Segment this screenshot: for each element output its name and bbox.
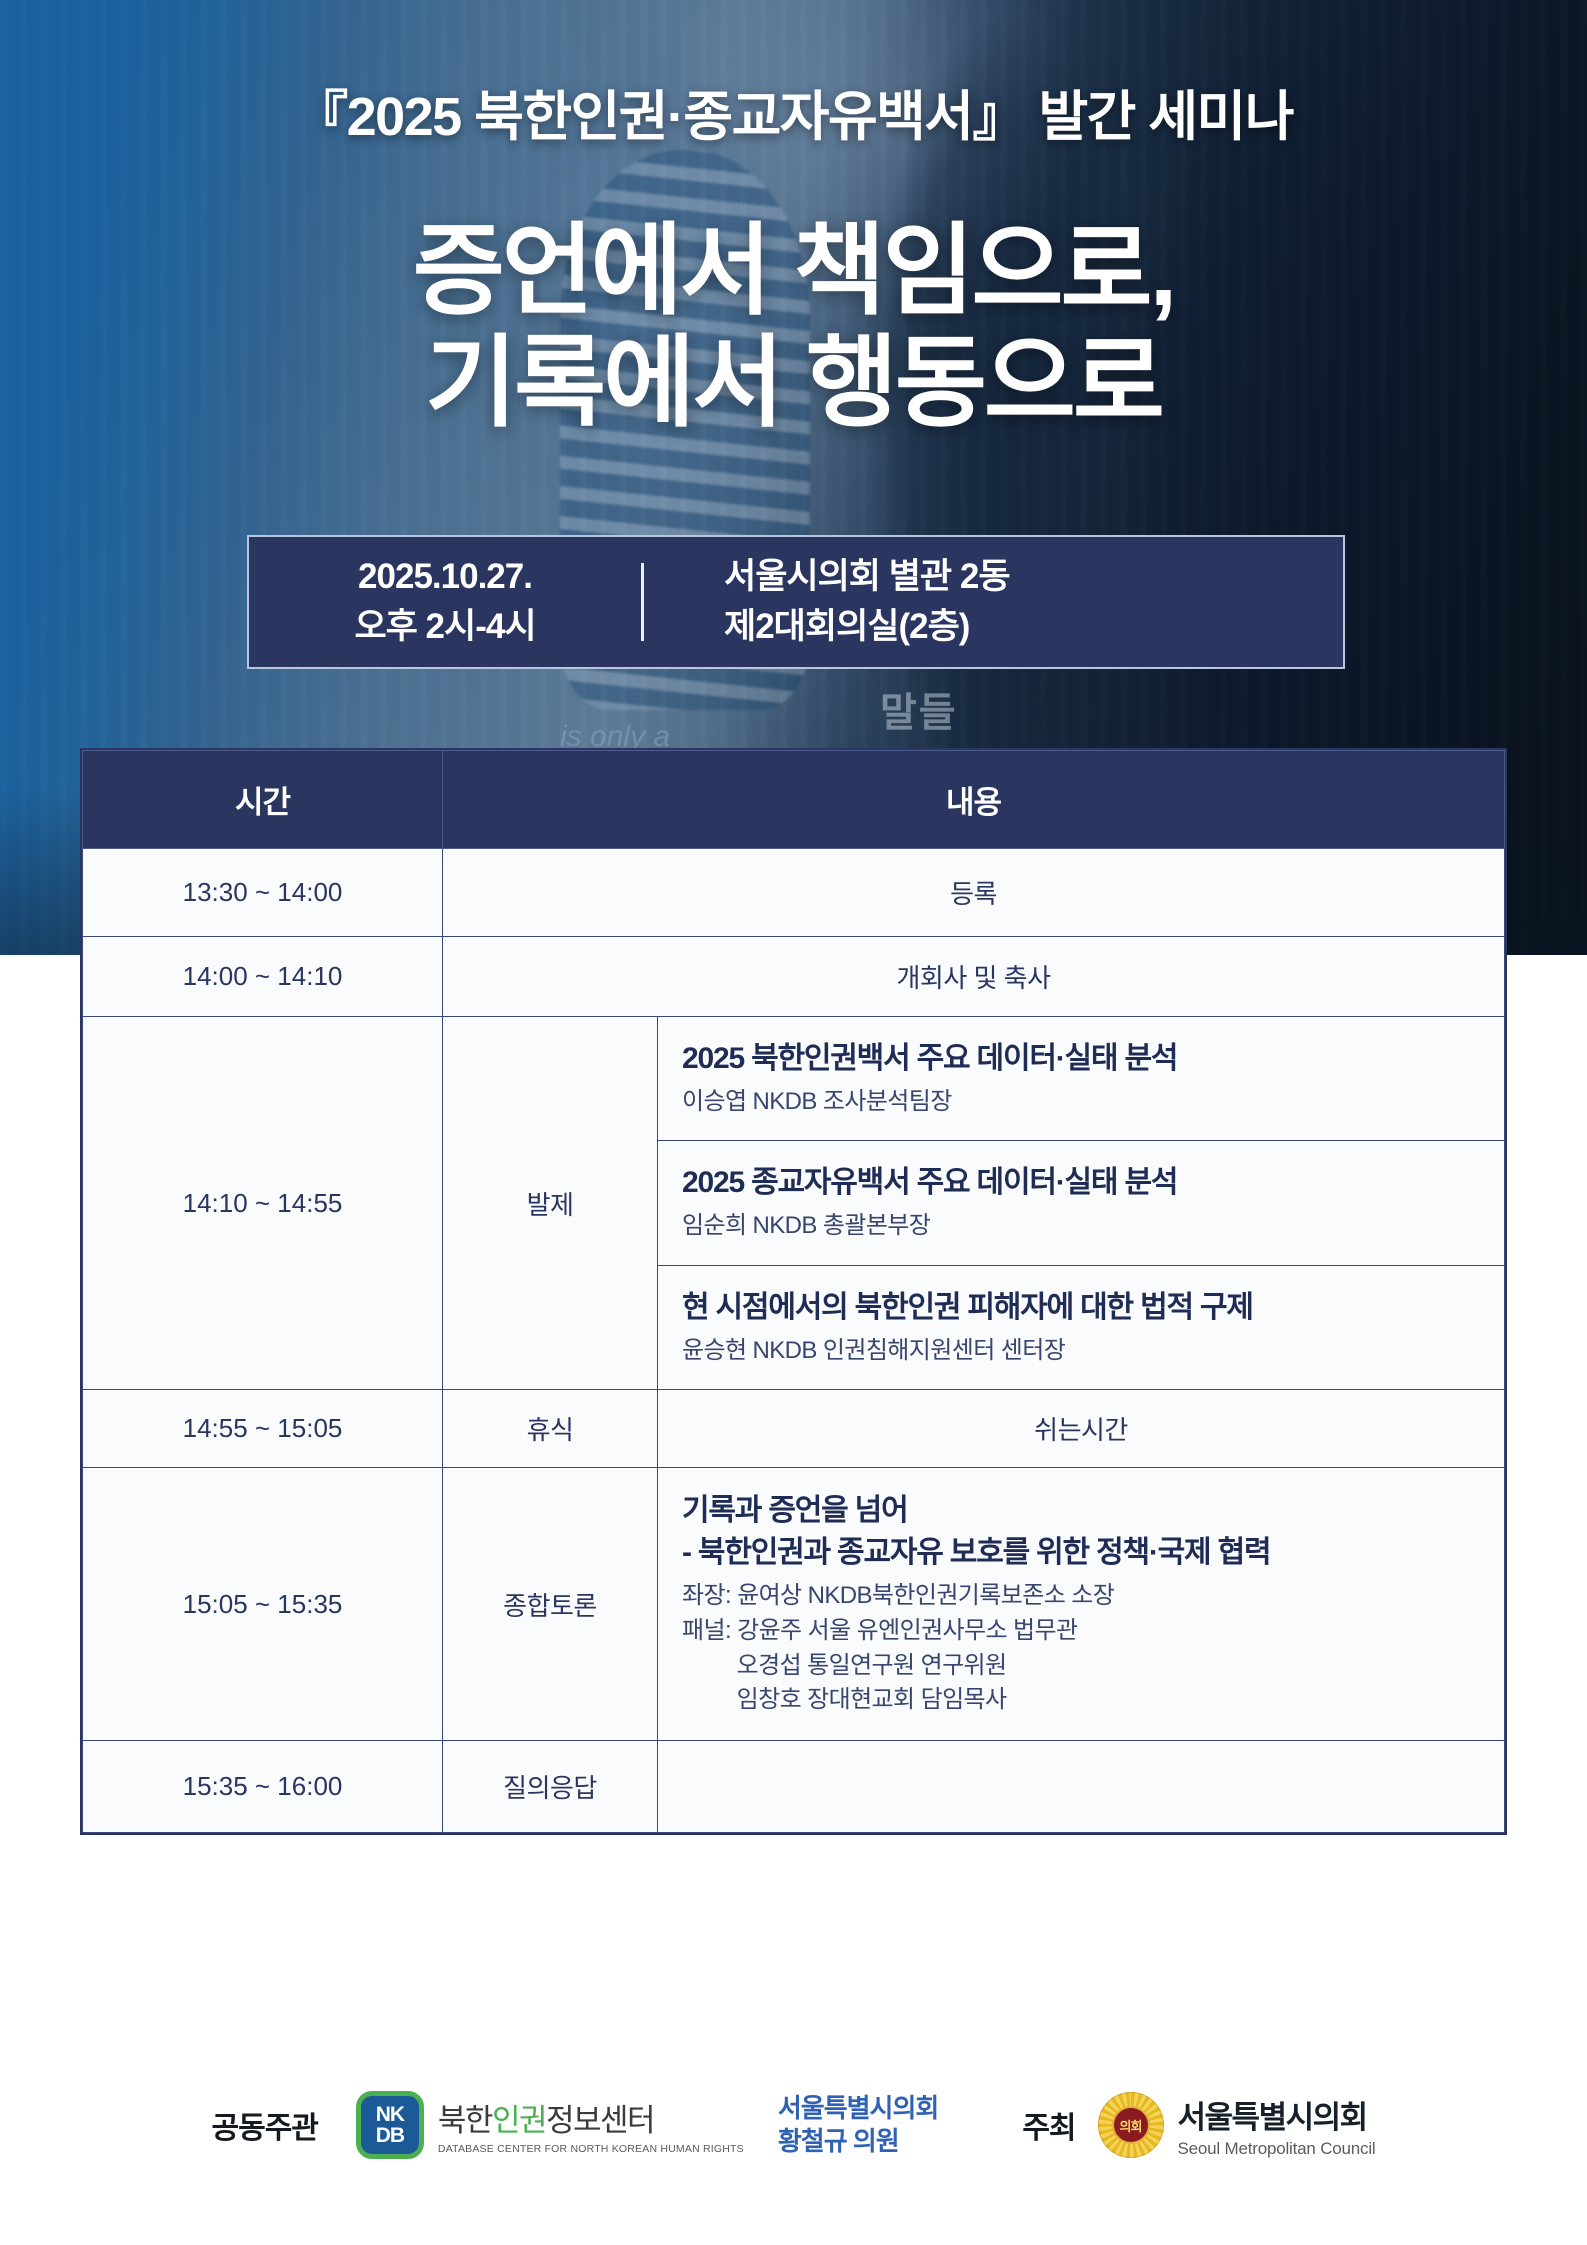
cell-time: 14:10 ~ 14:55 [83,1017,443,1390]
table-row: 13:30 ~ 14:00 등록 [83,849,1505,937]
seminar-kicker-title: 『2025 북한인권·종교자유백서』 발간 세미나 [0,72,1587,151]
nkdb-name-suffix: 정보센터 [546,2103,654,2138]
table-row: 14:00 ~ 14:10 개회사 및 축사 [83,937,1505,1017]
panel-member-2: 오경섭 통일연구원 연구위원 [682,1649,1504,1684]
session-speaker: 이승엽 NKDB 조사분석팀장 [682,1086,1504,1118]
session-title: 현 시점에서의 북한인권 피해자에 대한 법적 구제 [682,1288,1504,1327]
venue-room: 제2대회의실(2층) [724,602,1343,652]
panel-participants: 좌장: 윤여상 NKDB북한인권기록보존소 소장 패널: 강윤주 서울 유엔인권… [682,1579,1504,1718]
session-speaker: 임순희 NKDB 총괄본부장 [682,1210,1504,1242]
cell-session: 2025 종교자유백서 주요 데이터·실태 분석 임순희 NKDB 총괄본부장 [658,1141,1505,1265]
nkdb-mark-line-1: NK [376,2104,404,2125]
event-date: 2025.10.27. [249,552,641,602]
nkdb-mark-line-2: DB [376,2125,404,2146]
table-header-row: 시간 내용 [83,751,1505,849]
nkdb-name-ko: 북한인권정보센터 [438,2095,744,2140]
event-time: 오후 2시-4시 [249,602,641,652]
nkdb-name-highlight: 인권 [492,2103,546,2138]
cell-category: 질의응답 [443,1741,658,1833]
cell-content [658,1741,1505,1833]
seoul-council-wordmark: 서울특별시의회 Seoul Metropolitan Council [1178,2092,1376,2159]
nkdb-name-prefix: 북한 [438,2103,492,2138]
cell-category: 발제 [443,1017,658,1390]
panel-title-line-2: - 북한인권과 종교자유 보호를 위한 정책·국제 협력 [682,1532,1504,1573]
cell-content: 등록 [443,849,1505,937]
cell-content: 개회사 및 축사 [443,937,1505,1017]
panel-title-line-1: 기록과 증언을 넘어 [682,1490,1504,1531]
nkdb-wordmark: 북한인권정보센터 DATABASE CENTER FOR NORTH KOREA… [438,2095,744,2155]
cell-time: 13:30 ~ 14:00 [83,849,443,937]
table-row: 14:55 ~ 15:05 휴식 쉬는시간 [83,1390,1505,1468]
member-name: 황철규 의원 [778,2125,938,2158]
cell-category: 종합토론 [443,1468,658,1741]
venue-building: 서울시의회 별관 2동 [724,552,1343,602]
footer-logos: 공동주관 NK DB 북한인권정보센터 DATABASE CENTER FOR … [0,2060,1587,2190]
cell-time: 15:35 ~ 16:00 [83,1741,443,1833]
cohost-group: 공동주관 NK DB 북한인권정보센터 DATABASE CENTER FOR … [212,2091,939,2159]
cell-category: 휴식 [443,1390,658,1468]
host-group: 주최 의회 서울특별시의회 Seoul Metropolitan Council [1022,2092,1375,2159]
session-title: 2025 북한인권백서 주요 데이터·실태 분석 [682,1039,1504,1078]
event-venue: 서울시의회 별관 2동 제2대회의실(2층) [644,552,1343,651]
council-name-en: Seoul Metropolitan Council [1178,2139,1376,2159]
cell-session: 2025 북한인권백서 주요 데이터·실태 분석 이승엽 NKDB 조사분석팀장 [658,1017,1505,1141]
member-org: 서울특별시의회 [778,2092,938,2125]
table-row: 15:35 ~ 16:00 질의응답 [83,1741,1505,1833]
emblem-core: 의회 [1112,2106,1150,2144]
hero-background-text: 말들 [880,680,958,738]
headline-line-2: 기록에서 행동으로 [0,327,1587,439]
cell-time: 15:05 ~ 15:35 [83,1468,443,1741]
page-title: 증언에서 책임으로, 기록에서 행동으로 [0,215,1587,439]
agenda-table: 시간 내용 13:30 ~ 14:00 등록 14:00 ~ 14:10 개회사… [80,748,1507,1835]
nkdb-logo-icon: NK DB [356,2091,424,2159]
cell-time: 14:55 ~ 15:05 [83,1390,443,1468]
column-header-content: 내용 [443,751,1505,849]
cell-panel: 기록과 증언을 넘어 - 북한인권과 종교자유 보호를 위한 정책·국제 협력 … [658,1468,1505,1741]
cell-session: 현 시점에서의 북한인권 피해자에 대한 법적 구제 윤승현 NKDB 인권침해… [658,1265,1505,1389]
table-row: 15:05 ~ 15:35 종합토론 기록과 증언을 넘어 - 북한인권과 종교… [83,1468,1505,1741]
headline-line-1: 증언에서 책임으로, [0,215,1587,327]
council-name-ko: 서울특별시의회 [1178,2092,1376,2137]
panel-member-1: 패널: 강윤주 서울 유엔인권사무소 법무관 [682,1614,1504,1649]
seoul-council-emblem-icon: 의회 [1098,2092,1164,2158]
member-credit: 서울특별시의회 황철규 의원 [778,2092,938,2159]
session-title: 2025 종교자유백서 주요 데이터·실태 분석 [682,1163,1504,1202]
nkdb-name-en: DATABASE CENTER FOR NORTH KOREAN HUMAN R… [438,2143,744,2155]
column-header-time: 시간 [83,751,443,849]
table-row: 14:10 ~ 14:55 발제 2025 북한인권백서 주요 데이터·실태 분… [83,1017,1505,1141]
cell-time: 14:00 ~ 14:10 [83,937,443,1017]
host-label: 주최 [1022,2103,1075,2147]
event-datetime: 2025.10.27. 오후 2시-4시 [249,552,641,651]
cohost-label: 공동주관 [212,2103,318,2147]
event-info-box: 2025.10.27. 오후 2시-4시 서울시의회 별관 2동 제2대회의실(… [247,535,1345,669]
session-speaker: 윤승현 NKDB 인권침해지원센터 센터장 [682,1335,1504,1367]
panel-moderator: 좌장: 윤여상 NKDB북한인권기록보존소 소장 [682,1579,1504,1614]
cell-content: 쉬는시간 [658,1390,1505,1468]
panel-member-3: 임창호 장대현교회 담임목사 [682,1683,1504,1718]
